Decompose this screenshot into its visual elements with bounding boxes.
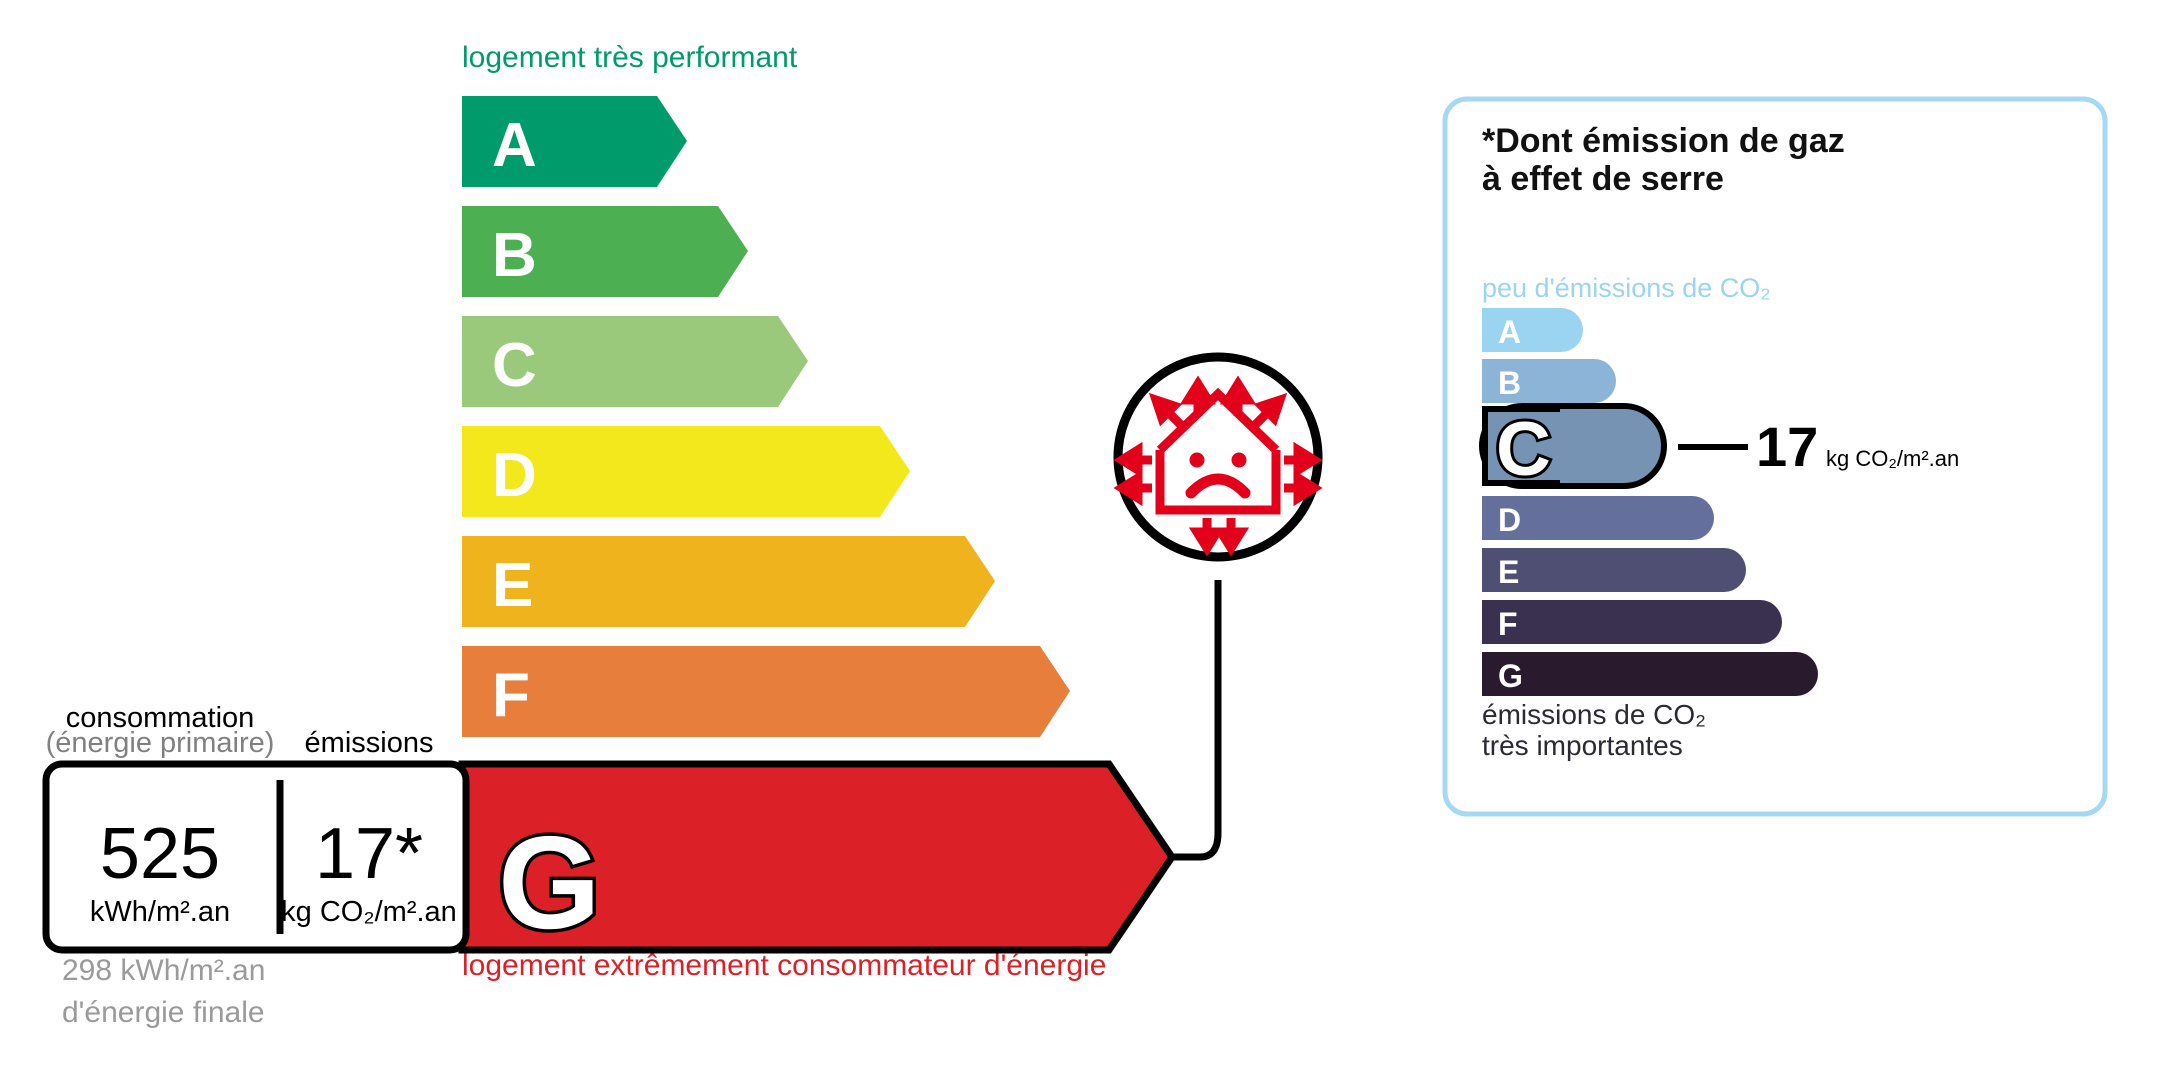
ghg-bottom-caption-line2: très importantes [1482, 730, 1683, 761]
ghg-bar-A-letter: A [1498, 314, 1521, 350]
ghg-bar-E-letter: E [1498, 554, 1519, 590]
ghg-bar-D: D [1482, 496, 1714, 540]
final-energy-line1: 298 kWh/m².an [62, 954, 265, 987]
ghg-bar-D-letter: D [1498, 502, 1521, 538]
consumption-value: 525 [100, 814, 220, 894]
energy-band-E-shape [462, 536, 995, 627]
energy-band-E: E [462, 536, 995, 627]
energy-band-B: B [462, 206, 748, 297]
ghg-bar-A: A [1482, 308, 1583, 352]
emissions-header: émissions [305, 727, 434, 759]
energy-top-caption: logement très performant [462, 41, 798, 74]
ghg-bar-E: E [1482, 548, 1746, 592]
ghg-top-caption: peu d'émissions de CO₂ [1482, 273, 1771, 303]
final-energy-line2: d'énergie finale [62, 996, 265, 1029]
ghg-title-line1: *Dont émission de gaz [1482, 122, 1845, 160]
energy-band-D: D [462, 426, 910, 517]
energy-bottom-caption: logement extrêmement consommateur d'éner… [462, 949, 1106, 982]
energy-bands-chart: logement très performant A B C D E [0, 0, 2169, 1079]
consumption-header-line2: (énergie primaire) [46, 727, 275, 759]
ghg-value: 17 [1756, 415, 1818, 478]
energy-band-E-letter: E [492, 551, 533, 620]
ghg-panel: *Dont émission de gaz à effet de serre p… [1445, 99, 2105, 814]
badge-connector-line [1172, 580, 1218, 857]
ghg-bar-F: F [1482, 600, 1782, 644]
summary-box: consommation (énergie primaire) émission… [46, 702, 466, 1029]
ghg-bar-C-letter: C [1496, 407, 1551, 492]
ghg-bar-B-letter: B [1498, 365, 1521, 401]
ghg-bar-B: B [1482, 359, 1616, 403]
energy-band-B-letter: B [492, 221, 537, 290]
energy-band-D-letter: D [492, 441, 537, 510]
ghg-bar-G-letter: G [1498, 658, 1523, 694]
ghg-title-line2: à effet de serre [1482, 160, 1724, 198]
energy-band-A-letter: A [492, 111, 537, 180]
energy-band-G-letter: G [498, 809, 601, 956]
energy-band-F-shape [462, 646, 1070, 737]
ghg-bar-F-letter: F [1498, 606, 1518, 642]
dpe-label-root: logement très performant A B C D E [0, 0, 2169, 1079]
consumption-unit: kWh/m².an [90, 896, 230, 928]
energy-band-F-letter: F [492, 661, 530, 730]
energy-band-F: F [462, 646, 1070, 737]
ghg-bottom-caption-line1: émissions de CO₂ [1482, 699, 1706, 730]
energy-band-G-selected: G [462, 764, 1172, 956]
energy-band-C-letter: C [492, 331, 537, 400]
ghg-bar-G: G [1482, 652, 1818, 696]
energy-band-C: C [462, 316, 808, 407]
energy-badge [1118, 357, 1318, 557]
emissions-value: 17* [315, 814, 423, 894]
energy-band-A: A [462, 96, 687, 187]
ghg-value-unit: kg CO₂/m².an [1826, 446, 1959, 471]
emissions-unit: kg CO₂/m².an [281, 896, 457, 928]
